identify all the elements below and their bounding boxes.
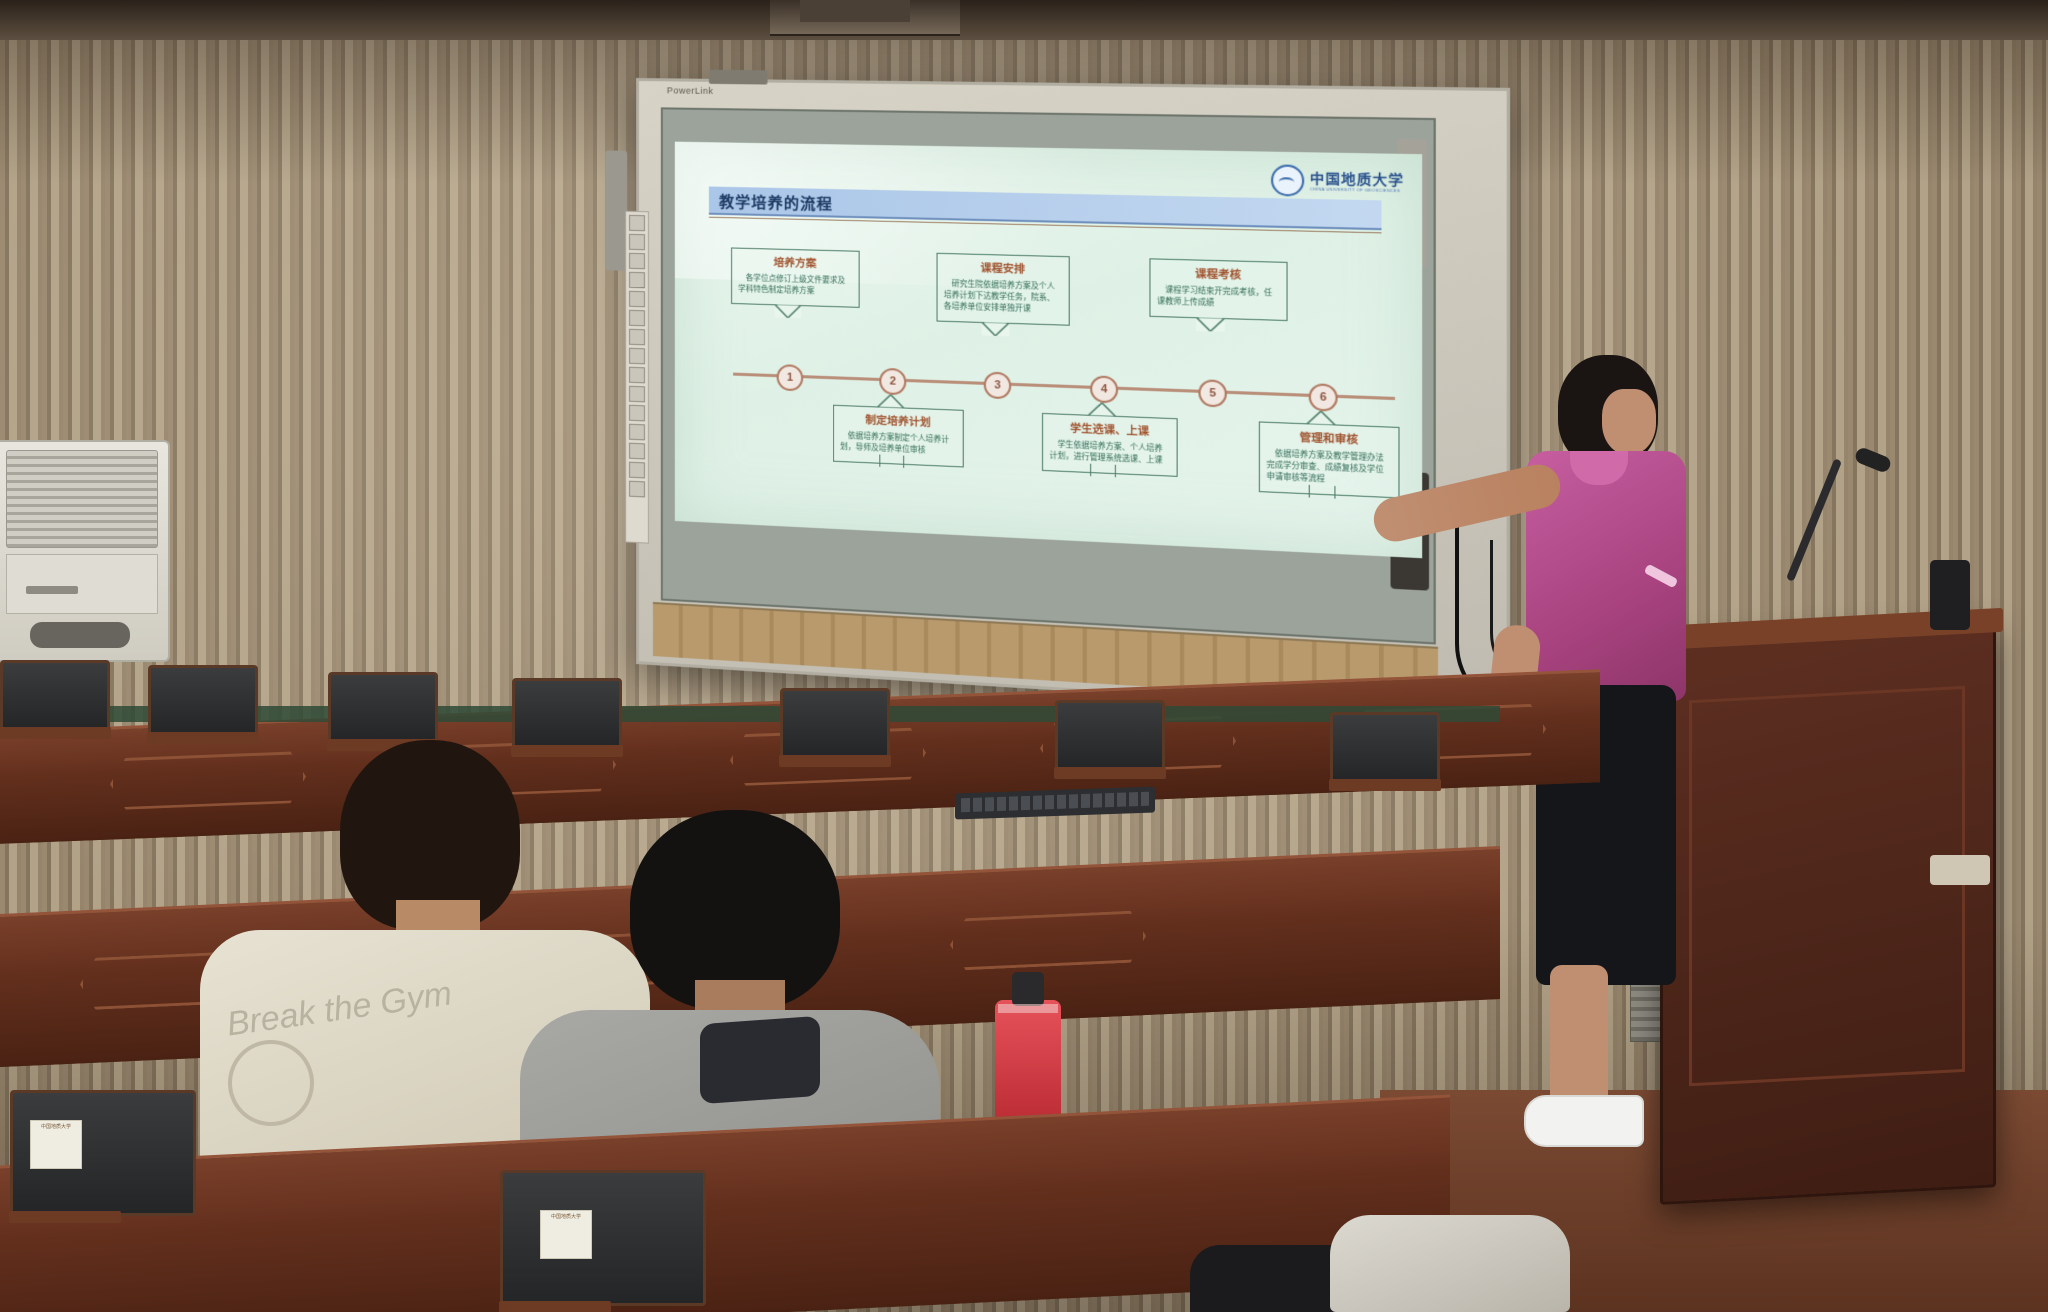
interactive-whiteboard[interactable]: PowerLink xyxy=(636,78,1510,719)
flow-card-5-notch xyxy=(1196,317,1224,332)
toolbar-icon-undo[interactable] xyxy=(629,234,645,250)
flow-card-1: 培养方案 各学位点修订上级文件要求及学科特色制定培养方案 xyxy=(731,247,860,307)
toolbar-icon-highlighter[interactable] xyxy=(629,310,645,327)
flow-card-1-body: 各学位点修订上级文件要求及学科特色制定培养方案 xyxy=(738,273,852,298)
flow-card-4-notch xyxy=(1088,402,1116,417)
chair[interactable] xyxy=(500,1170,706,1306)
flow-card-6: 管理和审核 依据培养方案及教学管理办法完成学分审查、成绩复核及学位申请审核等流程 xyxy=(1259,421,1400,498)
flow-card-5-body: 课程学习结束开完成考核，任课教师上传成绩 xyxy=(1157,285,1280,311)
chair-frame xyxy=(9,1211,121,1223)
flow-card-3-notch xyxy=(982,322,1009,336)
university-name-cn: 中国地质大学 xyxy=(1310,171,1404,187)
timeline-node-4: 4 xyxy=(1090,375,1118,403)
toolbar-icon-text[interactable] xyxy=(629,367,645,384)
presenter-shirt-stripe xyxy=(1644,564,1679,589)
air-conditioner-panel[interactable] xyxy=(30,622,130,648)
seat-plate: 中国地质大学 xyxy=(30,1120,82,1169)
presenter-face xyxy=(1602,389,1656,455)
university-name-en: CHINA UNIVERSITY OF GEOSCIENCES xyxy=(1310,187,1404,193)
board-brand-label: PowerLink xyxy=(667,85,714,96)
air-conditioner-body xyxy=(6,554,158,614)
chair[interactable] xyxy=(0,660,110,732)
presenter-shoe xyxy=(1524,1095,1644,1147)
air-conditioner-logo xyxy=(26,586,78,594)
flow-card-2-body: 依据培养方案制定个人培养计划，导师及培养单位审核 xyxy=(840,430,956,457)
projected-screen[interactable]: 中国地质大学 CHINA UNIVERSITY OF GEOSCIENCES 教… xyxy=(675,142,1422,559)
toolbar-icon-home[interactable] xyxy=(629,481,645,498)
toolbar-icon-shape[interactable] xyxy=(629,348,645,365)
toolbar-icon-settings[interactable] xyxy=(629,424,645,441)
ceiling-band xyxy=(0,0,2048,40)
flow-card-3: 课程安排 研究生院依据培养方案及个人培养计划下达教学任务，院系、各培养单位安排单… xyxy=(937,253,1070,326)
flow-card-6-body: 依据培养方案及教学管理办法完成学分审查、成绩复核及学位申请审核等流程 xyxy=(1267,448,1392,488)
seat-plate: 中国地质大学 xyxy=(540,1210,592,1259)
slide-title: 教学培养的流程 xyxy=(719,191,833,215)
presenter-leg xyxy=(1550,965,1608,1115)
student-left-shirt-emblem xyxy=(228,1040,314,1126)
chair[interactable] xyxy=(328,672,438,744)
timeline-node-1: 1 xyxy=(777,364,804,391)
flow-card-1-notch xyxy=(775,304,801,318)
desk-panel-motif xyxy=(950,910,1146,971)
toolbar-icon-keyboard[interactable] xyxy=(629,386,645,403)
flow-card-5: 课程考核 课程学习结束开完成考核，任课教师上传成绩 xyxy=(1149,258,1287,321)
flow-card-5-heading: 课程考核 xyxy=(1157,265,1280,284)
flow-card-4-body: 学生依据培养方案、个人培养计划，进行管理系统选课、上课 xyxy=(1049,439,1170,467)
chair-frame xyxy=(1054,767,1166,779)
flow-card-4-heading: 学生选课、上课 xyxy=(1049,419,1170,439)
board-speaker-left xyxy=(605,150,627,270)
flow-card-4: 学生选课、上课 学生依据培养方案、个人培养计划，进行管理系统选课、上课 xyxy=(1042,413,1178,477)
flow-card-3-body: 研究生院依据培养方案及个人培养计划下达教学任务，院系、各培养单位安排单独开课 xyxy=(944,279,1062,316)
thermos-ring xyxy=(998,1004,1058,1013)
thermos-cap[interactable] xyxy=(1012,972,1044,1006)
timeline-node-2: 2 xyxy=(879,368,906,396)
toolbar-icon-camera[interactable] xyxy=(629,405,645,422)
microphone-base xyxy=(1930,560,1970,630)
process-flow-diagram: 培养方案 各学位点修订上级文件要求及学科特色制定培养方案 1 xyxy=(723,247,1395,516)
powerpoint-slide: 中国地质大学 CHINA UNIVERSITY OF GEOSCIENCES 教… xyxy=(675,142,1422,559)
flow-card-2-notch xyxy=(877,394,904,408)
chair[interactable] xyxy=(1330,712,1440,784)
toolbar-icon-help[interactable] xyxy=(629,443,645,460)
desk-dark-bag xyxy=(700,1016,820,1104)
flow-card-2: 制定培养计划 依据培养方案制定个人培养计划，导师及培养单位审核 xyxy=(833,405,964,467)
toolbar-icon-redo[interactable] xyxy=(629,253,645,269)
flow-card-2-heading: 制定培养计划 xyxy=(840,411,956,431)
timeline-node-5: 5 xyxy=(1198,379,1226,407)
toolbar-icon-cursor[interactable] xyxy=(629,272,645,288)
toolbar-icon-pen[interactable] xyxy=(629,291,645,307)
air-conditioner xyxy=(0,440,170,662)
board-toolbar[interactable] xyxy=(625,211,649,544)
lecture-hall-scene: PowerLink xyxy=(0,0,2048,1312)
chair[interactable] xyxy=(148,665,258,737)
board-bezel: 中国地质大学 CHINA UNIVERSITY OF GEOSCIENCES 教… xyxy=(661,107,1436,644)
toolbar-icon-power[interactable] xyxy=(629,462,645,479)
flow-card-6-heading: 管理和审核 xyxy=(1267,428,1392,449)
university-crest-icon xyxy=(1271,164,1304,196)
timeline-node-3: 3 xyxy=(984,371,1011,399)
chair[interactable] xyxy=(780,688,890,760)
timeline-axis xyxy=(733,373,1395,401)
university-logo: 中国地质大学 CHINA UNIVERSITY OF GEOSCIENCES xyxy=(1271,164,1404,198)
podium-clip xyxy=(1930,855,1990,885)
back-row-bag xyxy=(1330,1215,1570,1312)
chair[interactable] xyxy=(1055,700,1165,772)
toolbar-icon-eraser[interactable] xyxy=(629,329,645,346)
chair-frame xyxy=(1329,779,1441,791)
thermos-bottle[interactable] xyxy=(995,1000,1061,1130)
flow-card-3-heading: 课程安排 xyxy=(944,259,1062,278)
board-hinge xyxy=(709,70,768,85)
chair-frame xyxy=(779,755,891,767)
timeline-node-6: 6 xyxy=(1309,383,1338,412)
chair-frame xyxy=(0,727,111,739)
flow-card-6-notch xyxy=(1306,411,1335,426)
keyboard-keys xyxy=(961,792,1149,813)
student-left-shirt-print: Break the Gym xyxy=(224,974,454,1044)
ceiling-vent-icon xyxy=(800,0,910,22)
toolbar-icon-save[interactable] xyxy=(629,215,645,231)
chair-frame xyxy=(499,1301,611,1312)
air-conditioner-grill xyxy=(6,450,158,548)
flow-card-1-heading: 培养方案 xyxy=(738,254,852,272)
